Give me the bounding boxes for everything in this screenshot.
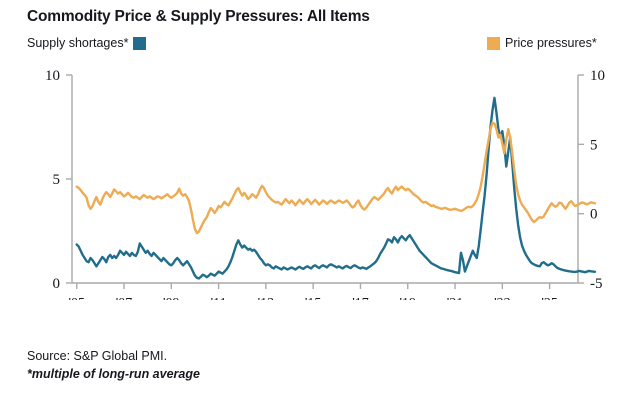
x-tick-label: '17 [352, 296, 369, 300]
x-tick-label: '09 [163, 296, 180, 300]
left-axis-tick-label: 5 [53, 172, 61, 188]
right-axis: -50510 [578, 68, 605, 292]
right-axis-tick-label: -5 [590, 276, 603, 292]
x-tick-label: '05 [68, 296, 85, 300]
x-tick-label: '25 [541, 296, 558, 300]
x-tick-label: '21 [447, 296, 464, 300]
legend-item-price-pressures: Price pressures* [487, 36, 597, 50]
x-tick-label: '23 [494, 296, 511, 300]
footer-notes: Source: S&P Global PMI. *multiple of lon… [27, 347, 200, 383]
line-chart-svg: 0510 -50510 '05'07'09'11'13'15'17'19'21'… [0, 60, 640, 300]
page-title: Commodity Price & Supply Pressures: All … [27, 8, 370, 26]
x-tick-label: '07 [116, 296, 133, 300]
series-group [77, 98, 595, 279]
legend-label-price-pressures: Price pressures* [505, 36, 597, 50]
legend-swatch-supply-icon [133, 37, 146, 50]
x-tick-label: '11 [211, 296, 227, 300]
right-axis-tick-label: 0 [590, 207, 598, 223]
left-axis-tick-label: 10 [45, 68, 60, 84]
x-tick-label: '19 [399, 296, 416, 300]
right-axis-tick-label: 10 [590, 68, 605, 84]
legend-item-supply-shortages: Supply shortages* [27, 36, 146, 50]
chart-plot-area: 0510 -50510 '05'07'09'11'13'15'17'19'21'… [0, 60, 640, 300]
source-line: Source: S&P Global PMI. [27, 347, 200, 365]
legend-label-supply-shortages: Supply shortages* [27, 36, 128, 50]
x-tick-label: '13 [258, 296, 275, 300]
right-axis-tick-label: 5 [590, 137, 598, 153]
bottom-axis [72, 283, 578, 289]
x-tick-label: '15 [305, 296, 322, 300]
legend-swatch-price-icon [487, 37, 500, 50]
left-axis-tick-label: 0 [53, 276, 61, 292]
left-axis: 0510 [45, 68, 72, 292]
chart-card: Commodity Price & Supply Pressures: All … [0, 0, 640, 401]
x-tick-labels: '05'07'09'11'13'15'17'19'21'23'25 [68, 296, 557, 300]
footnote-line: *multiple of long-run average [27, 365, 200, 383]
